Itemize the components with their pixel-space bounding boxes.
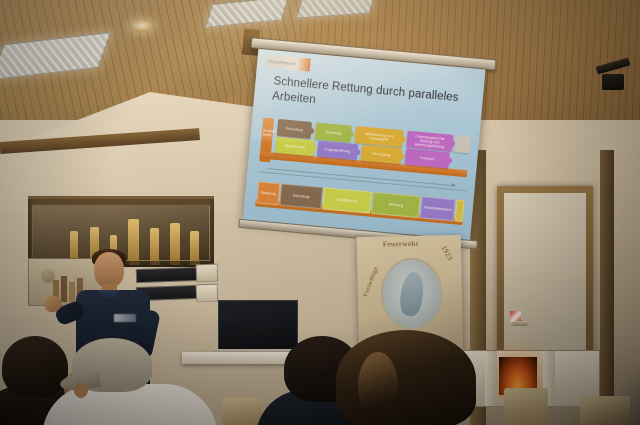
slide-logo: FEUERWEHR — [266, 55, 311, 72]
trophy — [190, 231, 199, 261]
door-handle[interactable] — [512, 321, 528, 326]
list-item — [326, 330, 496, 425]
banner-year-text: 1923 — [440, 244, 455, 262]
presenter-shirt-logo — [114, 314, 136, 322]
wall-plaque-box — [196, 264, 219, 283]
diagram-left-cap-label: Schaden eintritt — [263, 130, 273, 138]
diagram-block: Sicherung — [314, 122, 351, 142]
parallel-diagram: Schaden eintritt ErkundungSicherungStabi… — [255, 113, 473, 190]
wall-pillar — [600, 150, 614, 425]
sequential-block: Erkundung — [279, 183, 323, 209]
banner-top-text: Feuerwehr — [383, 240, 419, 249]
sequential-block — [455, 199, 465, 222]
ceiling-speaker — [602, 74, 624, 90]
person-hair-highlight — [358, 352, 398, 422]
wall-plaque-box — [196, 284, 219, 303]
chair — [222, 398, 262, 425]
sequential-block: Stabilisierung — [322, 187, 372, 213]
screen-surface: FEUERWEHR Schnellere Rettung durch paral… — [243, 49, 486, 241]
banner-left-text: Freiwillige — [363, 266, 380, 298]
banner-medallion — [380, 257, 443, 330]
diagram-block — [454, 135, 471, 153]
list-item — [52, 338, 202, 425]
shelf-ornament — [41, 269, 55, 283]
presenter-head — [94, 252, 124, 288]
banner-figure — [398, 271, 425, 317]
recessed-downlight — [130, 20, 154, 32]
diagram-block: Absicherung — [275, 137, 314, 156]
photo-scene: FEUERWEHR Schnellere Rettung durch paral… — [0, 0, 640, 425]
slide-logo-text: FEUERWEHR — [266, 59, 296, 67]
person-hair — [336, 330, 476, 425]
pull-down-projection-screen[interactable]: FEUERWEHR Schnellere Rettung durch paral… — [242, 42, 490, 252]
presentation-slide: FEUERWEHR Schnellere Rettung durch paral… — [243, 49, 486, 241]
chair — [580, 396, 630, 425]
diagram-block: Erkundung — [277, 119, 312, 139]
sequential-block: Patiententransport — [420, 196, 456, 221]
chair — [504, 388, 548, 425]
slide-title: Schnellere Rettung durch paralleles Arbe… — [271, 74, 469, 122]
sequential-block: Befreiung — [371, 192, 421, 218]
sequential-block: Sicherung — [256, 181, 280, 205]
diagram-block: Stabilisierung und Innenangriff — [354, 126, 403, 147]
person-ear — [74, 382, 88, 398]
